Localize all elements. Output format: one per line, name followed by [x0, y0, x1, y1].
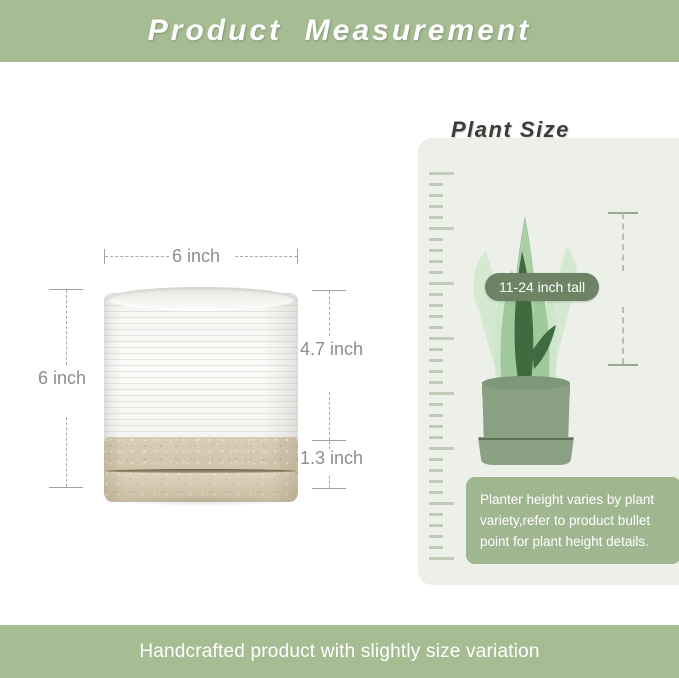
base-height-cap-bottom	[312, 488, 346, 489]
total-height-dash-top	[66, 290, 67, 365]
ruler-tick	[429, 304, 443, 307]
ruler-tick	[429, 315, 443, 318]
ruler-tick	[429, 458, 443, 461]
saucer-gap-shadow	[106, 469, 296, 473]
ruler-tick	[429, 282, 454, 285]
plant-size-title: Plant Size	[451, 117, 570, 143]
plant-height-cap-bottom	[608, 364, 638, 366]
ruler-tick	[429, 469, 443, 472]
page-title: Product Measurement	[148, 14, 531, 48]
ruler-tick	[429, 414, 443, 417]
ruler-tick	[429, 370, 443, 373]
ruler-tick	[429, 249, 443, 252]
ruler-tick	[429, 425, 443, 428]
plant-height-dash-bottom	[622, 307, 624, 364]
ruler-tick	[429, 227, 454, 230]
ruler-tick	[429, 535, 443, 538]
plant-height-badge: 11-24 inch tall	[485, 273, 599, 301]
plant-pot-lip	[482, 376, 570, 390]
plant-pot-saucer	[478, 437, 574, 465]
ruler-tick	[429, 238, 443, 241]
ruler-tick	[429, 271, 443, 274]
product-measurement-stage: 6 inch 6 inch 4.7 inch 1.3 inch	[0, 62, 410, 625]
planter-drop-shadow	[110, 496, 292, 506]
ruler-scale	[429, 172, 459, 560]
footer-text: Handcrafted product with slightly size v…	[139, 641, 539, 663]
footer-banner: Handcrafted product with slightly size v…	[0, 625, 679, 678]
ruler-tick	[429, 502, 454, 505]
dimension-total-height-label: 6 inch	[38, 368, 86, 389]
total-height-cap-bottom	[49, 487, 83, 488]
ruler-tick	[429, 337, 454, 340]
ruler-tick	[429, 172, 454, 175]
ruler-tick	[429, 194, 443, 197]
ruler-tick	[429, 557, 454, 560]
ruler-tick	[429, 436, 443, 439]
ruler-tick	[429, 293, 443, 296]
dimension-base-height-label: 1.3 inch	[300, 448, 363, 469]
planter-rim	[107, 287, 295, 311]
width-dash-left	[105, 256, 169, 257]
plant-height-dash-top	[622, 213, 624, 271]
plant-height-note: Planter height varies by plant variety,r…	[466, 477, 679, 564]
ruler-tick	[429, 183, 443, 186]
plant-pot-body	[482, 383, 570, 445]
ruler-tick	[429, 480, 443, 483]
snake-plant-illustration	[458, 193, 593, 468]
header-banner: Product Measurement	[0, 0, 679, 62]
ruler-tick	[429, 205, 443, 208]
width-cap-right	[297, 249, 298, 264]
width-dash-right	[235, 256, 297, 257]
dimension-width-label: 6 inch	[172, 246, 220, 267]
ruler-tick	[429, 524, 443, 527]
ruler-tick	[429, 260, 443, 263]
total-height-dash-bottom	[66, 417, 67, 487]
ruler-tick	[429, 381, 443, 384]
base-height-dash-bottom	[329, 476, 330, 488]
ruler-tick	[429, 359, 443, 362]
ruler-tick	[429, 348, 443, 351]
body-height-dash-bottom	[329, 392, 330, 440]
ruler-tick	[429, 491, 443, 494]
ruler-tick	[429, 403, 443, 406]
ruler-tick	[429, 326, 443, 329]
ruler-tick	[429, 392, 454, 395]
ruler-tick	[429, 546, 443, 549]
body-height-dash-top	[329, 291, 330, 336]
ruler-tick	[429, 216, 443, 219]
snake-plant-svg	[458, 193, 593, 468]
planter-rim-inner	[119, 291, 289, 308]
ceramic-planter-photo	[104, 287, 298, 502]
ruler-tick	[429, 447, 454, 450]
ruler-tick	[429, 513, 443, 516]
dimension-body-height-label: 4.7 inch	[300, 339, 363, 360]
